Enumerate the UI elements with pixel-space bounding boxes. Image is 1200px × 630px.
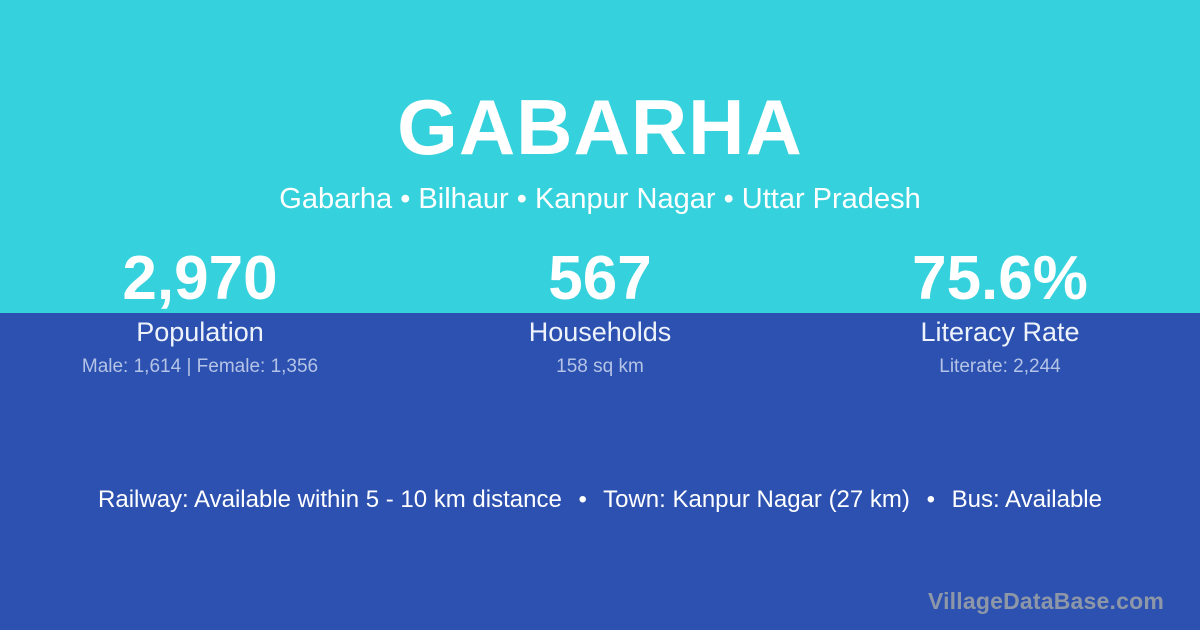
stat-households-value: 567 xyxy=(400,245,800,313)
amenity-town: Town: Kanpur Nagar (27 km) xyxy=(603,486,910,513)
stat-literacy: 75.6% Literacy Rate Literate: 2,244 xyxy=(800,245,1200,379)
amenity-separator-2: • xyxy=(917,484,945,516)
page-title: GABARHA xyxy=(0,83,1200,171)
stat-literacy-sub: Literate: 2,244 xyxy=(800,355,1200,379)
stat-households: 567 Households 158 sq km xyxy=(400,245,800,379)
site-brand-watermark: VillageDataBase.com xyxy=(928,586,1164,616)
stat-literacy-value: 75.6% xyxy=(800,245,1200,313)
stat-population-sub: Male: 1,614 | Female: 1,356 xyxy=(0,355,400,379)
stats-row: 2,970 Population Male: 1,614 | Female: 1… xyxy=(0,245,1200,379)
stat-households-label: Households xyxy=(400,315,800,349)
stat-population-value: 2,970 xyxy=(0,245,400,313)
stat-literacy-label: Literacy Rate xyxy=(800,315,1200,349)
amenities-line: Railway: Available within 5 - 10 km dist… xyxy=(0,484,1200,516)
amenity-bus: Bus: Available xyxy=(952,486,1102,513)
amenity-separator-1: • xyxy=(568,484,596,516)
stat-population: 2,970 Population Male: 1,614 | Female: 1… xyxy=(0,245,400,379)
stat-households-sub: 158 sq km xyxy=(400,355,800,379)
breadcrumb: Gabarha • Bilhaur • Kanpur Nagar • Uttar… xyxy=(0,180,1200,218)
village-info-card: GABARHA Gabarha • Bilhaur • Kanpur Nagar… xyxy=(0,0,1200,630)
amenity-railway: Railway: Available within 5 - 10 km dist… xyxy=(98,486,562,513)
stat-population-label: Population xyxy=(0,315,400,349)
